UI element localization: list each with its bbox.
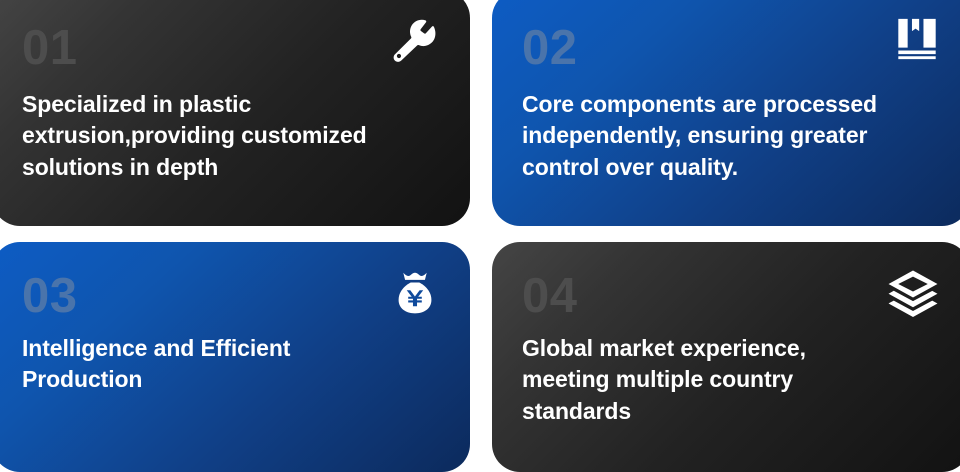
feature-card-04[interactable]: 04 Global market experience, meeting mul…: [492, 242, 960, 472]
feature-card-04-body: 04 Global market experience, meeting mul…: [492, 242, 960, 472]
feature-card-01[interactable]: 01 Specialized in plastic extrusion,prov…: [0, 0, 470, 226]
feature-card-01-text: Specialized in plastic extrusion,providi…: [22, 89, 440, 183]
layers-stack-icon: [884, 268, 940, 324]
feature-card-03-text: Intelligence and Efficient Production: [22, 333, 440, 396]
feature-card-02-number: 02: [522, 24, 940, 73]
feature-card-02-text: Core components are processed independen…: [522, 89, 940, 183]
feature-card-02-body: 02 Core components are processed indepen…: [492, 0, 960, 226]
feature-card-03[interactable]: 03 Intelligence and Efficient Production: [0, 242, 470, 472]
feature-card-03-number: 03: [22, 272, 440, 321]
wrench-icon: [384, 16, 440, 72]
feature-card-04-text: Global market experience, meeting multip…: [522, 333, 940, 427]
feature-card-02[interactable]: 02 Core components are processed indepen…: [492, 0, 960, 226]
feature-card-grid: 01 Specialized in plastic extrusion,prov…: [0, 0, 960, 459]
feature-card-01-body: 01 Specialized in plastic extrusion,prov…: [0, 0, 470, 226]
money-bag-yen-icon: [384, 268, 440, 324]
feature-card-04-number: 04: [522, 272, 940, 321]
feature-card-01-number: 01: [22, 24, 440, 73]
feature-card-03-body: 03 Intelligence and Efficient Production: [0, 242, 470, 472]
book-bookmark-icon: [884, 16, 940, 72]
